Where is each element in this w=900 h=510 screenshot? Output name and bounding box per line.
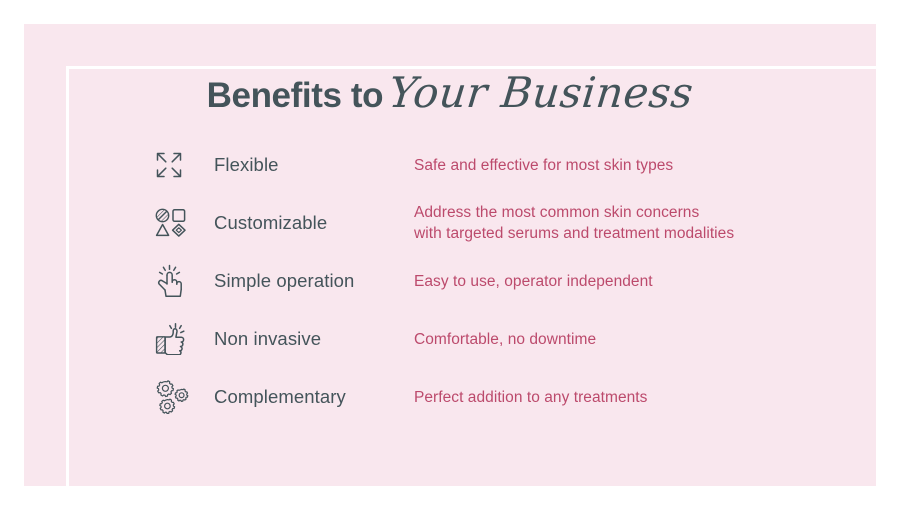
benefits-list: Flexible Safe and effective for most ski… <box>150 136 850 426</box>
shapes-grid-icon <box>150 200 214 246</box>
list-item-description-line1: Easy to use, operator independent <box>414 273 653 290</box>
list-item-description-line1: Perfect addition to any treatments <box>414 389 647 406</box>
pointing-hand-tap-icon <box>150 258 214 304</box>
list-item-label: Non invasive <box>214 328 414 350</box>
list-item-description: Easy to use, operator independent <box>414 271 653 292</box>
list-item-description-line1: Address the most common skin concerns <box>414 204 699 221</box>
list-item-label: Simple operation <box>214 270 414 292</box>
list-item-description: Comfortable, no downtime <box>414 329 596 350</box>
list-item: Non invasive Comfortable, no downtime <box>150 310 850 368</box>
list-item-description: Address the most common skin concerns wi… <box>414 202 734 244</box>
list-item-description-line1: Comfortable, no downtime <box>414 331 596 348</box>
list-item-label: Complementary <box>214 386 414 408</box>
list-item: Flexible Safe and effective for most ski… <box>150 136 850 194</box>
thumbs-up-icon <box>150 316 214 362</box>
expand-arrows-icon <box>150 142 214 188</box>
list-item-description-line1: Safe and effective for most skin types <box>414 157 673 174</box>
list-item: Customizable Address the most common ski… <box>150 194 850 252</box>
list-item-label: Flexible <box>214 154 414 176</box>
gears-icon <box>150 374 214 420</box>
list-item-description: Safe and effective for most skin types <box>414 155 673 176</box>
list-item-description: Perfect addition to any treatments <box>414 387 647 408</box>
page-title: Benefits toYour Business <box>0 68 900 117</box>
list-item: Simple operation Easy to use, operator i… <box>150 252 850 310</box>
list-item-description-line2: with targeted serums and treatment modal… <box>414 223 734 244</box>
slide-root: Benefits toYour Business <box>0 0 900 510</box>
list-item-label: Customizable <box>214 212 414 234</box>
page-title-main: Benefits to <box>207 76 383 115</box>
page-title-script: Your Business <box>387 68 696 117</box>
list-item: Complementary Perfect addition to any tr… <box>150 368 850 426</box>
